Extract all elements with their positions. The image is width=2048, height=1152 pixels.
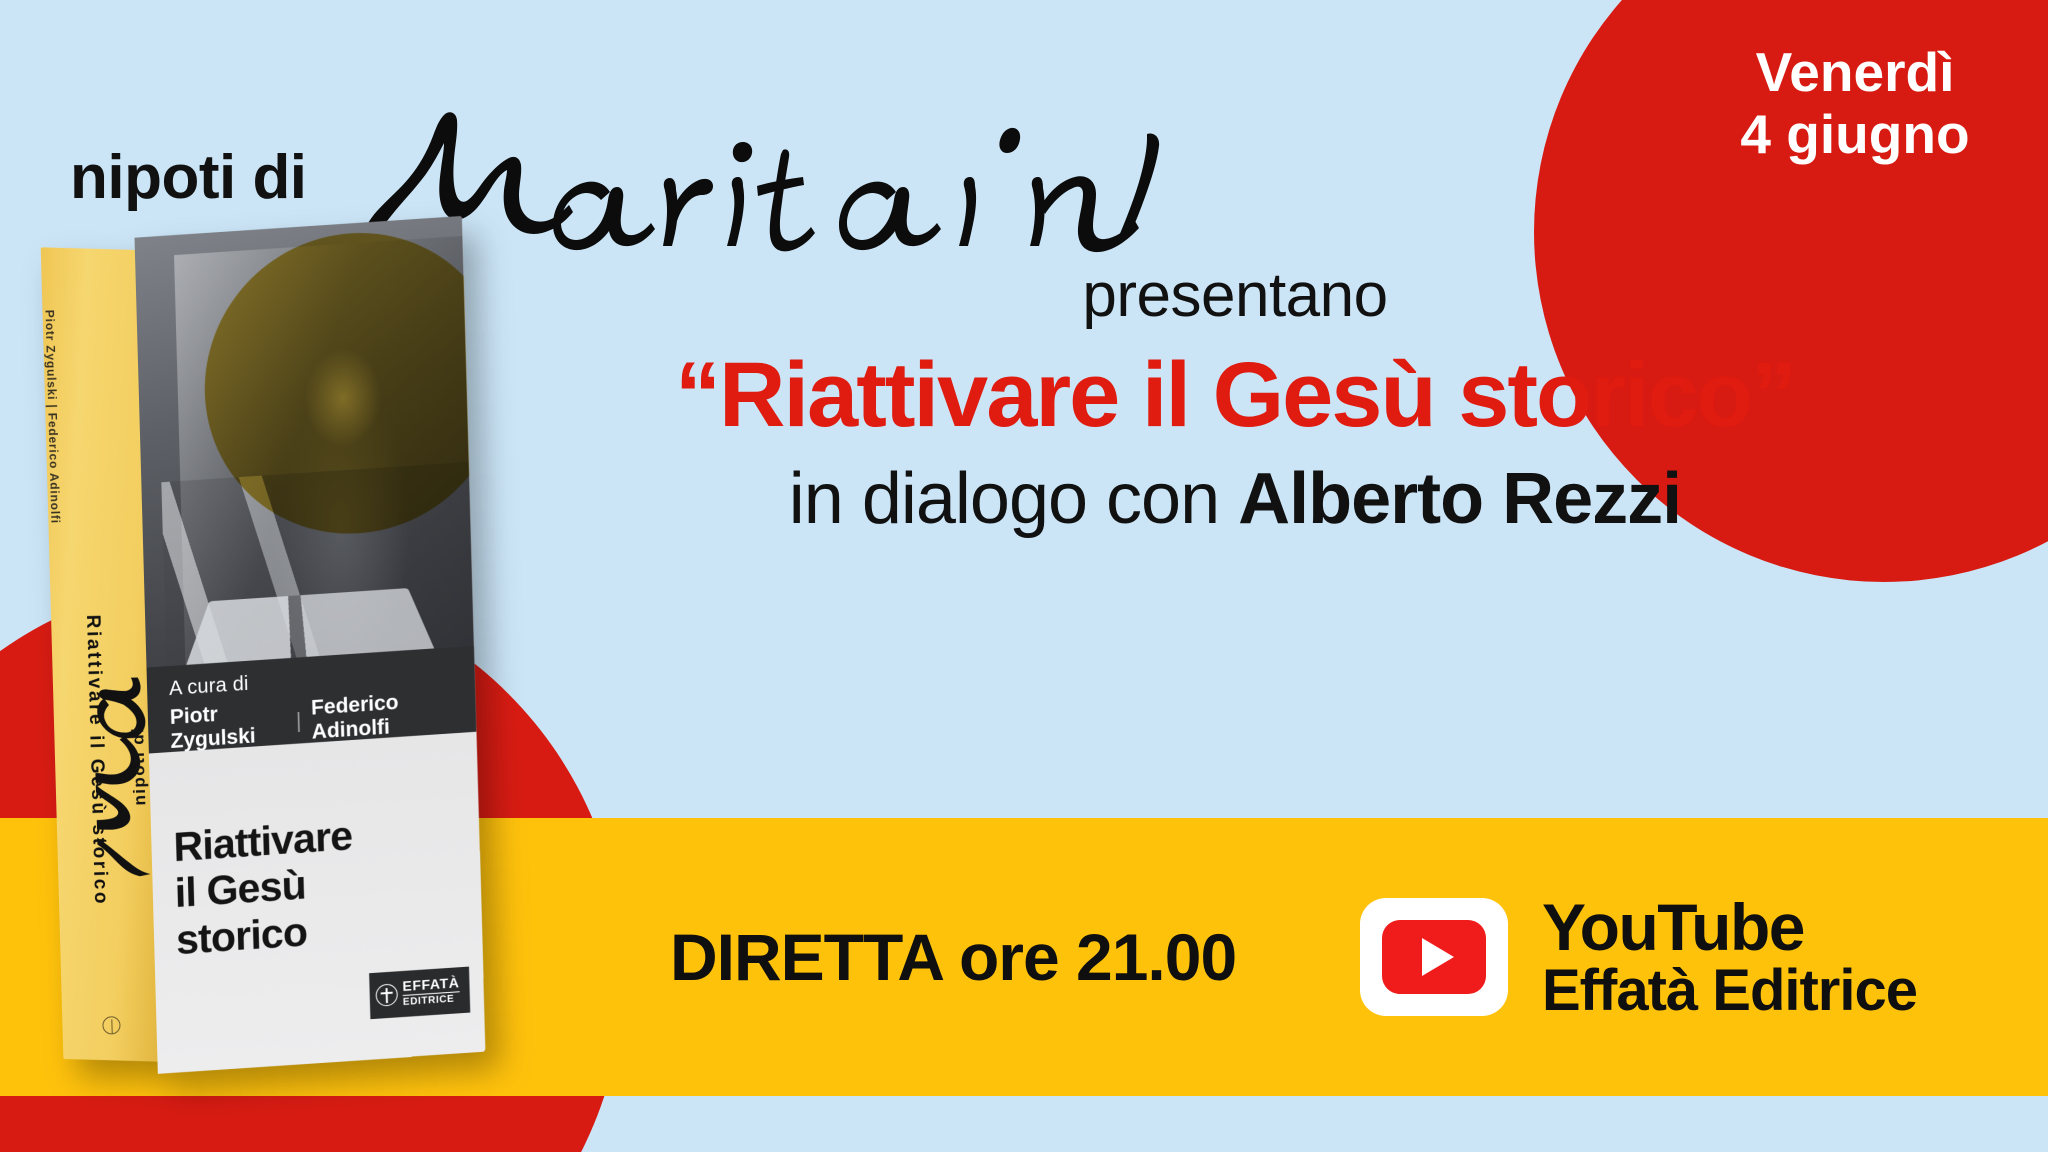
publisher-logo: EFFATÀ EDITRICE	[369, 967, 470, 1020]
live-time-label: DIRETTA ore 21.00	[670, 919, 1236, 995]
youtube-channel-name: Effatà Editrice	[1542, 961, 1917, 1021]
book-title-headline: “Riattivare il Gesù storico”	[520, 346, 1950, 445]
book-front-cover: A cura di Piotr Zygulski | Federico Adin…	[134, 216, 485, 1073]
spine-authors: Piotr Zygulski | Federico Adinolfi	[42, 310, 64, 610]
dialogue-prefix: in dialogo con	[789, 459, 1238, 539]
guest-name: Alberto Rezzi	[1238, 459, 1681, 539]
maritain-signature-icon	[351, 90, 1191, 260]
youtube-channel-block[interactable]: YouTube Effatà Editrice	[1360, 893, 1917, 1022]
youtube-label: YouTube	[1542, 893, 1917, 962]
event-date-badge: Venerdì 4 giugno	[1690, 42, 2020, 165]
cover-title: Riattivare il Gesù storico	[173, 812, 355, 963]
date-line-2: 4 giugno	[1690, 104, 2020, 166]
cover-title-area: Riattivare il Gesù storico EFFATÀ EDITRI…	[149, 732, 485, 1074]
presentano-label: presentano	[520, 262, 1950, 330]
book-mockup: Piotr Zygulski | Federico Adinolfi Riatt…	[40, 222, 483, 1073]
cover-author-separator: |	[296, 709, 302, 733]
main-copy-block: presentano “Riattivare il Gesù storico” …	[520, 262, 1950, 539]
dialogue-line: in dialogo con Alberto Rezzi	[520, 460, 1950, 539]
event-poster: nipoti di	[0, 0, 2048, 1152]
publisher-subtitle: EDITRICE	[403, 994, 460, 1008]
date-line-1: Venerdì	[1756, 41, 1955, 103]
youtube-play-icon[interactable]	[1360, 898, 1508, 1016]
spine-publisher-mark-icon	[102, 1016, 120, 1034]
effata-mark-icon	[375, 983, 398, 1006]
brand-prefix: nipoti di	[70, 147, 307, 209]
